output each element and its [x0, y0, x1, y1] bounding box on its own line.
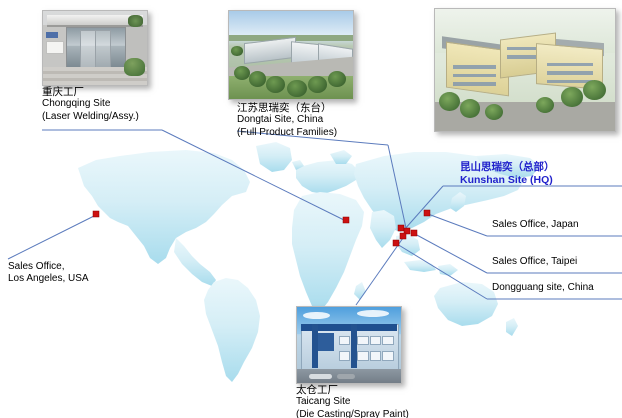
- caption-dongtai-cn: 江苏思瑞奕（东台）: [237, 102, 337, 114]
- label-los-angeles-line2: Los Angeles, USA: [8, 273, 89, 285]
- marker-dongtai: [343, 217, 349, 223]
- caption-dongtai-detail: (Full Product Families): [237, 127, 337, 139]
- marker-dongguang: [393, 240, 399, 246]
- caption-kunshan-cn: 昆山思瑞奕（总部）: [460, 161, 555, 174]
- marker-taipei: [411, 230, 417, 236]
- photo-taicang-site: [296, 306, 402, 384]
- label-los-angeles-line1: Sales Office,: [8, 261, 89, 273]
- caption-chongqing-cn: 重庆工厂: [42, 86, 139, 98]
- caption-taicang-en: Taicang Site: [296, 396, 409, 408]
- global-sites-map-page: 重庆工厂 Chongqing Site (Laser Welding/Assy.…: [0, 0, 622, 418]
- caption-chongqing-detail: (Laser Welding/Assy.): [42, 111, 139, 123]
- caption-taicang: 太仓工厂 Taicang Site (Die Casting/Spray Pai…: [296, 384, 409, 418]
- photo-dongtai-site: [228, 10, 354, 100]
- caption-dongtai: 江苏思瑞奕（东台） Dongtai Site, China (Full Prod…: [237, 102, 337, 139]
- label-dongguang: Dongguang site, China: [492, 282, 594, 294]
- marker-los-angeles: [93, 211, 99, 217]
- caption-kunshan: 昆山思瑞奕（总部） Kunshan Site (HQ): [460, 161, 555, 187]
- photo-chongqing-site: [42, 10, 148, 86]
- label-japan: Sales Office, Japan: [492, 219, 579, 231]
- caption-chongqing-en: Chongqing Site: [42, 98, 139, 110]
- caption-taicang-cn: 太仓工厂: [296, 384, 409, 396]
- marker-japan: [424, 210, 430, 216]
- caption-chongqing: 重庆工厂 Chongqing Site (Laser Welding/Assy.…: [42, 86, 139, 123]
- marker-kunshan-c: [400, 233, 406, 239]
- photo-kunshan-site: [434, 8, 616, 132]
- label-taipei: Sales Office, Taipei: [492, 256, 577, 268]
- caption-kunshan-en: Kunshan Site (HQ): [460, 174, 555, 187]
- caption-dongtai-en: Dongtai Site, China: [237, 114, 337, 126]
- marker-kunshan-a: [398, 225, 404, 231]
- caption-taicang-detail: (Die Casting/Spray Paint): [296, 409, 409, 418]
- label-los-angeles: Sales Office, Los Angeles, USA: [8, 261, 89, 286]
